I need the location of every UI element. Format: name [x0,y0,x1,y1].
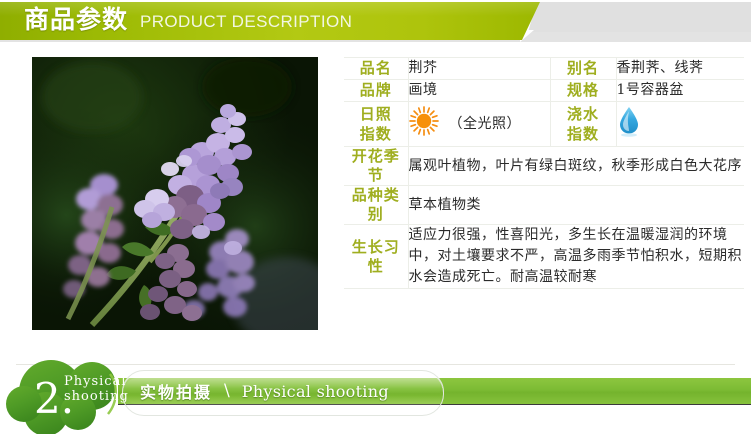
spec-value-bloom-season: 属观叶植物，叶片有绿白斑纹，秋季形成白色大花序 [408,147,744,186]
spec-label-sunlight-line1: 日照 [344,104,408,124]
spec-value-sunlight-text: （全光照） [449,114,522,135]
spec-label-watering-line1: 浇水 [551,104,616,124]
banner-title-en: Physical shooting [242,382,389,401]
table-row: 生长习性 适应力很强，性喜阳光，多生长在温暖湿润的环境中，对土壤要求不严，高温多… [344,225,744,289]
banner-step-badge: 2. Physical shooting [6,360,136,434]
banner-title-cn: 实物拍摄 [140,379,212,403]
spec-label-growth-habit: 生长习性 [344,225,408,289]
banner-step-caption-line2: shooting [64,389,129,404]
table-row: 日照 指数 [344,102,744,147]
spec-label-sunlight-index: 日照 指数 [344,102,408,147]
spec-value-brand: 画境 [408,80,550,102]
table-row: 开花季节 属观叶植物，叶片有绿白斑纹，秋季形成白色大花序 [344,147,744,186]
spec-label-brand: 品牌 [344,80,408,102]
sun-icon [409,106,439,143]
header-gray-upper-block [528,2,751,32]
banner-step-caption-line1: Physical [64,374,129,389]
spec-label-name: 品名 [344,58,408,80]
spec-value-growth-habit: 适应力很强，性喜阳光，多生长在温暖湿润的环境中，对土壤要求不严，高温多雨季节怕积… [408,225,744,289]
banner-step-caption: Physical shooting [64,374,129,404]
product-spec-table: 品名 荆芥 别名 香荆荠、线荠 品牌 画境 规格 1号容器盆 日照 指数 [344,57,744,289]
page-title-en: PRODUCT DESCRIPTION [140,12,352,32]
spec-value-name: 荆芥 [408,58,550,80]
spec-label-sunlight-line2: 指数 [344,124,408,144]
page-title-cn: 商品参数 [24,6,128,34]
water-drop-icon [617,125,641,141]
spec-label-bloom-season: 开花季节 [344,147,408,186]
spec-label-spec: 规格 [550,80,616,102]
spec-label-alias: 别名 [550,58,616,80]
spec-value-watering-index [616,102,744,147]
spec-label-watering-index: 浇水 指数 [550,102,616,147]
spec-value-spec: 1号容器盆 [616,80,744,102]
spec-value-sunlight-index: （全光照） [408,102,550,147]
table-row: 品种类别 草本植物类 [344,186,744,225]
spec-label-watering-line2: 指数 [551,124,616,144]
product-photo [32,57,318,330]
spec-value-alias: 香荆荠、线荠 [616,58,744,80]
table-row: 品名 荆芥 别名 香荆荠、线荠 [344,58,744,80]
banner-label-group: 实物拍摄 \ Physical shooting [140,380,389,402]
page-root: 商品参数 PRODUCT DESCRIPTION [0,0,751,434]
banner-separator: \ [224,381,230,401]
section-header: 商品参数 PRODUCT DESCRIPTION [0,0,751,48]
spec-value-variety-type: 草本植物类 [408,186,744,225]
table-row: 品牌 画境 规格 1号容器盆 [344,80,744,102]
spec-label-variety-type: 品种类别 [344,186,408,225]
